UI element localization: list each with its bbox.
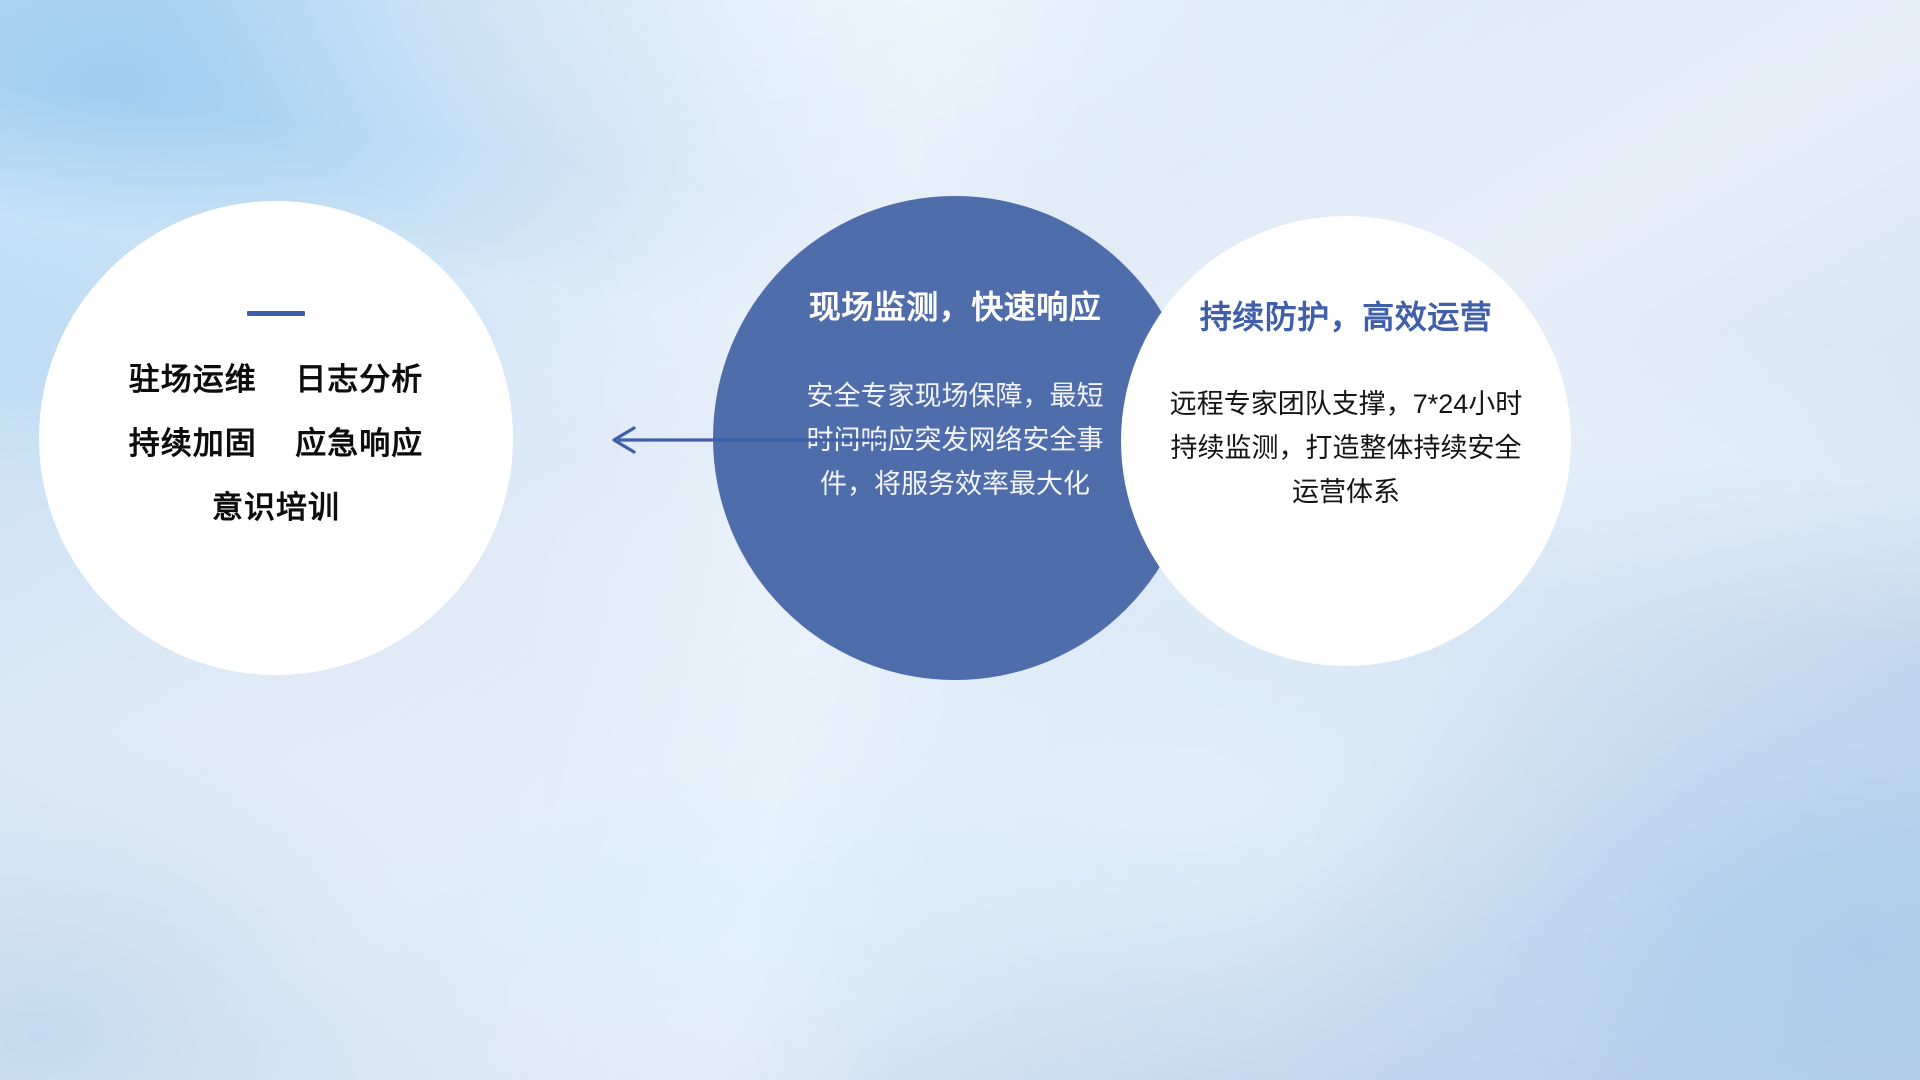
capability-circle: 驻场运维 日志分析 持续加固 应急响应 意识培训 xyxy=(39,201,513,675)
continuous-protection-title: 持续防护，高效运营 xyxy=(1146,300,1546,335)
continuous-protection-content: 持续防护，高效运营 远程专家团队支撑，7*24小时持续监测，打造整体持续安全运营… xyxy=(1146,216,1546,514)
continuous-protection-circle: 持续防护，高效运营 远程专家团队支撑，7*24小时持续监测，打造整体持续安全运营… xyxy=(1121,216,1571,666)
flow-arrow-icon xyxy=(600,415,890,465)
divider-rule xyxy=(247,311,305,316)
slide-canvas: 驻场运维 日志分析 持续加固 应急响应 意识培训 现场监测，快速响应 安全专家现… xyxy=(0,0,1920,1080)
capability-line-2: 持续加固 应急响应 xyxy=(56,428,496,459)
capability-content: 驻场运维 日志分析 持续加固 应急响应 意识培训 xyxy=(56,201,496,523)
onsite-monitoring-title: 现场监测，快速响应 xyxy=(745,290,1165,325)
continuous-protection-body: 远程专家团队支撑，7*24小时持续监测，打造整体持续安全运营体系 xyxy=(1161,383,1531,514)
capability-line-1: 驻场运维 日志分析 xyxy=(56,364,496,395)
capability-line-3: 意识培训 xyxy=(56,492,496,523)
